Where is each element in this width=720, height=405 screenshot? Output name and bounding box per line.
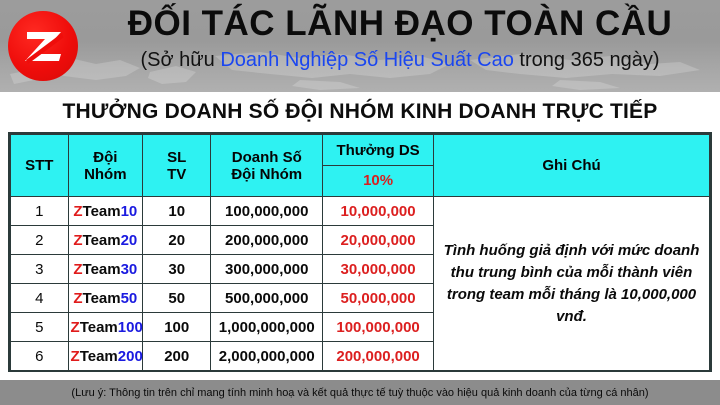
col-header-stt: STT	[11, 135, 69, 197]
cell-team: ZTeam200	[68, 342, 143, 371]
cell-team: ZTeam50	[68, 284, 143, 313]
brand-logo	[0, 0, 86, 92]
cell-member-count: 200	[143, 342, 211, 371]
cell-stt: 2	[11, 226, 69, 255]
table-row: 1 ZTeam10 10 100,000,000 10,000,000 Tình…	[11, 197, 710, 226]
promo-page: ĐỐI TÁC LÃNH ĐẠO TOÀN CẦU (Sở hữu Doanh …	[0, 0, 720, 405]
cell-revenue: 2,000,000,000	[211, 342, 323, 371]
bonus-table: STT Đội Nhóm SLTV Doanh SốĐội Nhóm Thưởn…	[10, 134, 710, 371]
cell-member-count: 30	[143, 255, 211, 284]
banner-subtitle-highlight: Doanh Nghiệp Số Hiệu Suất Cao	[220, 49, 514, 71]
cell-team-z: Z	[73, 261, 82, 278]
cell-team-number: 50	[121, 290, 138, 307]
col-header-member-count-line1: SL	[167, 149, 186, 166]
cell-team-number: 200	[118, 348, 143, 365]
cell-member-count: 50	[143, 284, 211, 313]
cell-stt: 4	[11, 284, 69, 313]
footer-disclaimer: (Lưu ý: Thông tin trên chỉ mang tính min…	[0, 380, 720, 405]
cell-revenue: 1,000,000,000	[211, 313, 323, 342]
banner-subtitle-prefix: (Sở hữu	[140, 49, 220, 71]
cell-team-word: Team	[83, 203, 121, 220]
cell-team-number: 10	[121, 203, 138, 220]
banner-title: ĐỐI TÁC LÃNH ĐẠO TOÀN CẦU	[86, 2, 714, 46]
cell-team-z: Z	[73, 203, 82, 220]
cell-bonus: 200,000,000	[323, 342, 434, 371]
cell-note: Tình huống giả định với mức doanh thu tr…	[433, 197, 709, 371]
cell-revenue: 300,000,000	[211, 255, 323, 284]
cell-team-number: 100	[118, 319, 143, 336]
cell-team-word: Team	[80, 319, 118, 336]
cell-bonus: 10,000,000	[323, 197, 434, 226]
cell-team-number: 20	[121, 232, 138, 249]
table-body: 1 ZTeam10 10 100,000,000 10,000,000 Tình…	[11, 197, 710, 371]
cell-revenue: 500,000,000	[211, 284, 323, 313]
z-logo-icon	[8, 11, 78, 81]
table-header: STT Đội Nhóm SLTV Doanh SốĐội Nhóm Thưởn…	[11, 135, 710, 197]
cell-team: ZTeam10	[68, 197, 143, 226]
cell-bonus: 100,000,000	[323, 313, 434, 342]
cell-bonus: 50,000,000	[323, 284, 434, 313]
col-header-revenue-line2: Đội Nhóm	[231, 166, 302, 183]
cell-team-word: Team	[80, 348, 118, 365]
cell-team-z: Z	[71, 348, 80, 365]
cell-team: ZTeam20	[68, 226, 143, 255]
cell-member-count: 100	[143, 313, 211, 342]
banner-subtitle: (Sở hữu Doanh Nghiệp Số Hiệu Suất Cao tr…	[86, 46, 714, 74]
cell-bonus: 20,000,000	[323, 226, 434, 255]
cell-member-count: 20	[143, 226, 211, 255]
col-header-bonus: Thưởng DS 10%	[323, 135, 434, 197]
cell-team-z: Z	[71, 319, 80, 336]
table-header-row: STT Đội Nhóm SLTV Doanh SốĐội Nhóm Thưởn…	[11, 135, 710, 197]
col-header-note: Ghi Chú	[433, 135, 709, 197]
cell-team: ZTeam30	[68, 255, 143, 284]
cell-stt: 6	[11, 342, 69, 371]
cell-revenue: 100,000,000	[211, 197, 323, 226]
cell-bonus: 30,000,000	[323, 255, 434, 284]
cell-team-word: Team	[83, 261, 121, 278]
col-header-team: Đội Nhóm	[68, 135, 143, 197]
cell-team-word: Team	[83, 232, 121, 249]
cell-team: ZTeam100	[68, 313, 143, 342]
col-header-member-count: SLTV	[143, 135, 211, 197]
bonus-table-container: STT Đội Nhóm SLTV Doanh SốĐội Nhóm Thưởn…	[8, 132, 712, 372]
cell-team-word: Team	[83, 290, 121, 307]
cell-stt: 3	[11, 255, 69, 284]
col-header-member-count-line2: TV	[167, 166, 186, 183]
cell-team-z: Z	[73, 290, 82, 307]
col-header-revenue: Doanh SốĐội Nhóm	[211, 135, 323, 197]
cell-stt: 5	[11, 313, 69, 342]
col-header-bonus-title: Thưởng DS	[323, 135, 433, 166]
col-header-revenue-line1: Doanh Số	[232, 149, 302, 166]
section-title: THƯỞNG DOANH SỐ ĐỘI NHÓM KINH DOANH TRỰC…	[0, 92, 720, 132]
cell-revenue: 200,000,000	[211, 226, 323, 255]
cell-team-number: 30	[121, 261, 138, 278]
banner-subtitle-suffix: trong 365 ngày)	[514, 49, 660, 71]
cell-member-count: 10	[143, 197, 211, 226]
page-banner: ĐỐI TÁC LÃNH ĐẠO TOÀN CẦU (Sở hữu Doanh …	[0, 0, 720, 92]
cell-stt: 1	[11, 197, 69, 226]
col-header-bonus-rate: 10%	[323, 166, 433, 196]
cell-team-z: Z	[73, 232, 82, 249]
